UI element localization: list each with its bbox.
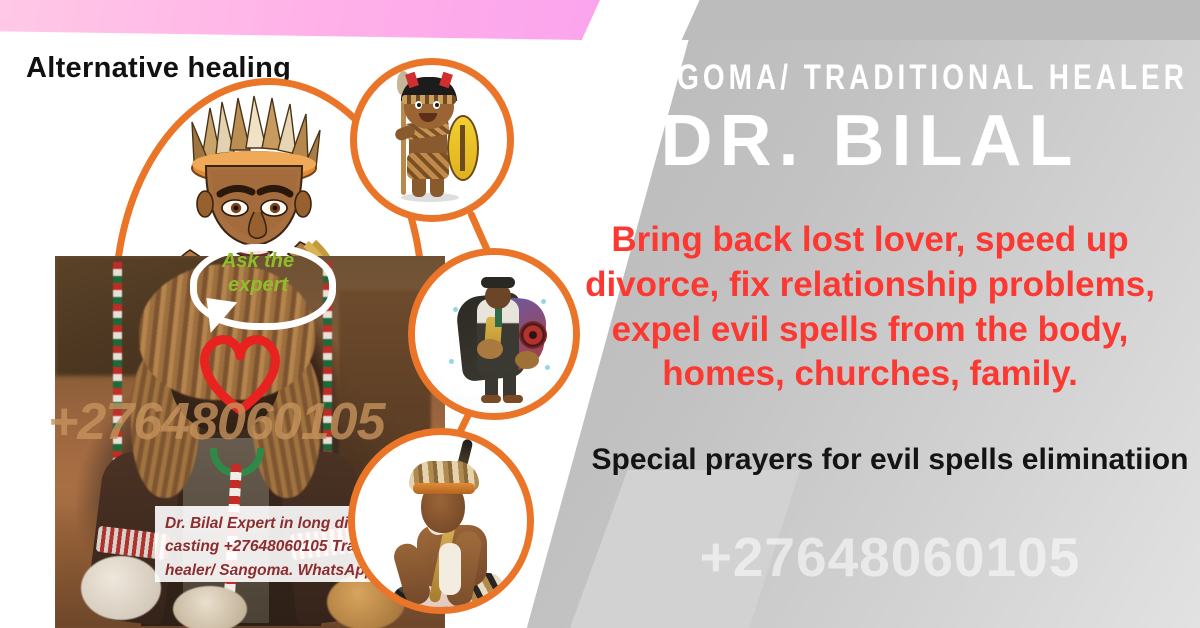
speech-bubble-label: Ask the expert [198,250,318,297]
cloaked-healer-hat [481,277,515,288]
warrior-eye-left [415,101,422,109]
special-prayers-paragraph: Special prayers for evil spells eliminat… [590,440,1190,481]
cloaked-healer-foot-right [503,395,523,403]
warrior-eye-right [433,101,440,109]
top-bar-pink [0,0,600,40]
cloaked-healer-tie [495,307,502,327]
headline-name: DR. BILAL [540,100,1200,182]
services-paragraph: Bring back lost lover, speed up divorce,… [550,218,1190,397]
poster-canvas: Alternative healing [0,0,1200,628]
sangoma-arm-wrap [439,543,461,595]
photo-gourd-left [81,556,161,620]
cloaked-healer-bag-right [515,351,539,369]
sparkle-1 [453,307,458,312]
photo-watermark-phone: +27648060105 [48,392,385,452]
sangoma-crown-band [413,483,475,494]
badge-kneeling-sangoma [348,428,534,614]
warrior-headband [402,95,456,104]
warrior-loincloth [407,153,449,179]
sparkle-3 [449,359,454,364]
warrior-shadow [401,193,459,202]
subtitle-kicker: SANGOMA/ TRADITIONAL HEALER [606,58,1134,98]
warrior-shield-icon [447,115,479,181]
cloaked-healer-foot-left [481,395,501,403]
cloaked-healer-bag-left [477,339,503,359]
badge-zulu-warrior [350,58,514,222]
photo-gourd-middle [173,586,247,628]
contact-phone-watermark: +27648060105 [580,525,1200,589]
right-content-column: SANGOMA/ TRADITIONAL HEALER DR. BILAL Br… [540,0,1200,628]
